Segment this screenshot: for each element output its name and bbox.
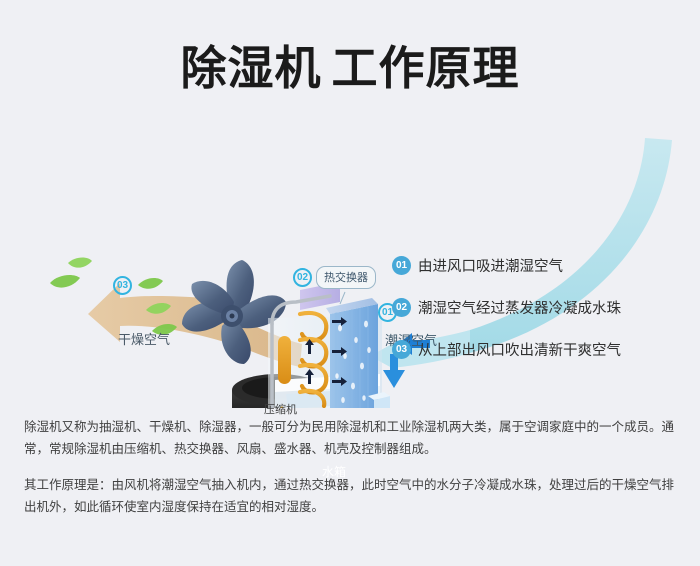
label-dry-air: 干燥空气 xyxy=(118,329,170,348)
dehumidifier-infographic: 除湿机工作原理 xyxy=(0,0,700,566)
legend-label-03: 从上部出风口吹出清新干爽空气 xyxy=(418,339,621,360)
description-paragraph-1: 除湿机又称为抽湿机、干燥机、除湿器，一般可分为民用除湿机和工业除湿机两大类，属于… xyxy=(24,416,679,460)
diagram-marker-02: 02 xyxy=(293,268,312,287)
legend-item-01: 01 由进风口吸进潮湿空气 xyxy=(392,255,692,276)
legend-badge-01: 01 xyxy=(392,256,411,275)
legend-label-01: 由进风口吸进潮湿空气 xyxy=(418,255,563,276)
legend-item-02: 02 潮湿空气经过蒸发器冷凝成水珠 xyxy=(392,297,692,318)
description-paragraph-2: 其工作原理是：由风机将潮湿空气抽入机内，通过热交换器，此时空气中的水分子冷凝成水… xyxy=(24,474,679,518)
legend-badge-03: 03 xyxy=(392,340,411,359)
description-block: 除湿机又称为抽湿机、干燥机、除湿器，一般可分为民用除湿机和工业除湿机两大类，属于… xyxy=(24,416,679,518)
legend-label-02: 潮湿空气经过蒸发器冷凝成水珠 xyxy=(418,297,621,318)
diagram-marker-03: 03 xyxy=(113,276,132,295)
label-compressor: 压缩机 xyxy=(264,401,297,417)
legend-list: 01 由进风口吸进潮湿空气 02 潮湿空气经过蒸发器冷凝成水珠 03 从上部出风… xyxy=(392,255,692,381)
accumulator xyxy=(278,336,291,384)
callout-leader-line xyxy=(340,292,345,304)
page-title-main: 除湿机 xyxy=(181,42,322,94)
legend-badge-02: 02 xyxy=(392,298,411,317)
page-title-sub: 工作原理 xyxy=(332,42,520,94)
page-title: 除湿机工作原理 xyxy=(0,32,700,98)
callout-heat-exchanger: 热交换器 xyxy=(316,266,376,289)
legend-item-03: 03 从上部出风口吹出清新干爽空气 xyxy=(392,339,692,360)
